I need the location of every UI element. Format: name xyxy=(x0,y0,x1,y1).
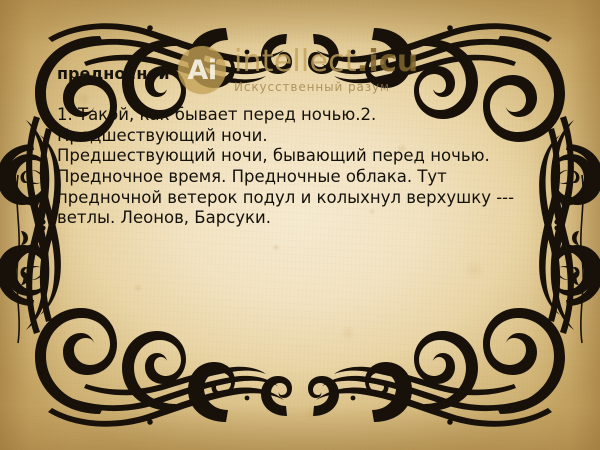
article-content: предночной 1. Такой, как бывает перед но… xyxy=(57,64,557,229)
parchment-page: Ai intellect.icu Искусственный разум пре… xyxy=(0,0,600,450)
page-title: предночной xyxy=(57,64,557,83)
article-body: 1. Такой, как бывает перед ночью.2. Пред… xyxy=(57,83,557,229)
